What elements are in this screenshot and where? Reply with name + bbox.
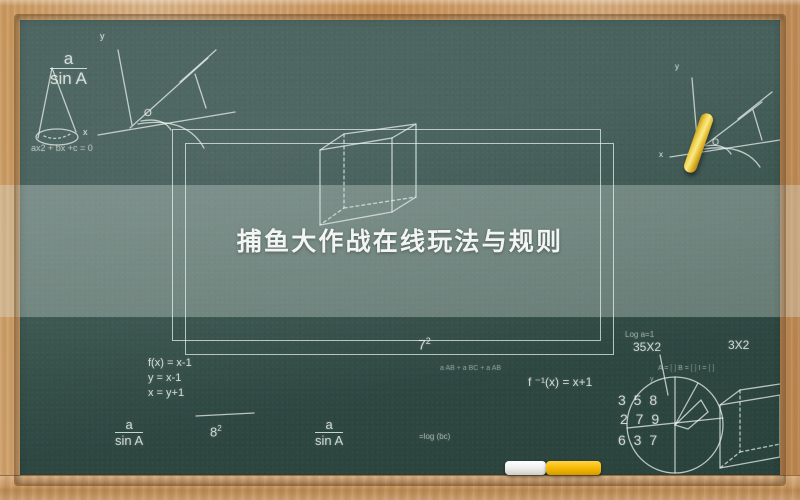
frame-inner-shadow <box>16 16 784 484</box>
frame-top-highlight <box>0 0 800 6</box>
chalkboard-banner-image: a sin A ax2 + bx +c = 0 y x O y x O f(x)… <box>0 0 800 500</box>
